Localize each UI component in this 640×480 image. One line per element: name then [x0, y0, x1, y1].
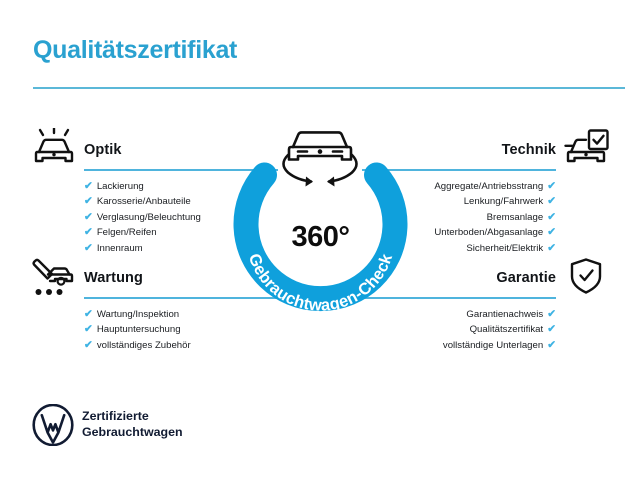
- 360-gebrauchtwagen-check-badge: Gebrauchtwagen-Check 360: [218, 118, 423, 318]
- list-item-label: Felgen/Reifen: [97, 227, 157, 238]
- footer-brand-text: Zertifizierte Gebrauchtwagen: [82, 409, 183, 440]
- check-icon: ✔: [547, 307, 556, 322]
- wrench-car-icon: [28, 256, 80, 300]
- list-item: Qualitätszertifikat✔: [362, 322, 556, 337]
- list-item: ✔vollständiges Zubehör: [84, 338, 278, 353]
- check-icon: ✔: [84, 225, 93, 240]
- section-title-garantie: Garantie: [496, 270, 556, 286]
- check-icon: ✔: [84, 338, 93, 353]
- footer-brand: Zertifizierte Gebrauchtwagen: [32, 404, 332, 454]
- list-item-label: Wartung/Inspektion: [97, 309, 179, 320]
- list-item-label: Bremsanlage: [487, 212, 544, 223]
- check-icon: ✔: [547, 179, 556, 194]
- check-icon: ✔: [84, 179, 93, 194]
- title-divider: [33, 87, 625, 89]
- list-item-label: Aggregate/Antriebsstrang: [434, 181, 543, 192]
- car-front-rotate-icon: [284, 132, 357, 186]
- check-icon: ✔: [547, 338, 556, 353]
- check-icon: ✔: [547, 194, 556, 209]
- check-icon: ✔: [547, 210, 556, 225]
- check-icon: ✔: [84, 194, 93, 209]
- list-item-label: Verglasung/Beleuchtung: [97, 212, 201, 223]
- check-icon: ✔: [547, 241, 556, 256]
- section-title-wartung: Wartung: [84, 270, 143, 286]
- list-item-label: Karosserie/Anbauteile: [97, 196, 191, 207]
- footer-line-2: Gebrauchtwagen: [82, 425, 183, 441]
- list-item-label: Innenraum: [97, 243, 143, 254]
- page-title: Qualitätszertifikat: [33, 36, 237, 65]
- check-icon: ✔: [547, 322, 556, 337]
- check-icon: ✔: [84, 210, 93, 225]
- list-item-label: Lenkung/Fahrwerk: [464, 196, 543, 207]
- quality-certificate-page: Qualitätszertifikat: [0, 0, 640, 480]
- list-item-label: vollständige Unterlagen: [443, 340, 543, 351]
- section-title-technik: Technik: [502, 142, 556, 158]
- list-item-label: Garantienachweis: [466, 309, 543, 320]
- list-item-label: Sicherheit/Elektrik: [466, 243, 543, 254]
- list-item: ✔Hauptuntersuchung: [84, 322, 278, 337]
- list-item: vollständige Unterlagen✔: [362, 338, 556, 353]
- check-icon: ✔: [84, 322, 93, 337]
- check-icon: ✔: [84, 307, 93, 322]
- list-item-label: Qualitätszertifikat: [470, 324, 544, 335]
- list-item-label: vollständiges Zubehör: [97, 340, 191, 351]
- badge-center-label: 360°: [218, 221, 423, 254]
- list-item-label: Unterboden/Abgasanlage: [434, 227, 543, 238]
- car-shine-icon: [28, 128, 80, 172]
- check-icon: ✔: [547, 225, 556, 240]
- car-checkbox-icon: [560, 128, 612, 172]
- vw-logo-icon: [32, 404, 74, 451]
- list-item-label: Hauptuntersuchung: [97, 324, 181, 335]
- shield-check-icon: [560, 256, 612, 300]
- footer-line-1: Zertifizierte: [82, 409, 183, 425]
- section-title-optik: Optik: [84, 142, 122, 158]
- list-item-label: Lackierung: [97, 181, 144, 192]
- check-icon: ✔: [84, 241, 93, 256]
